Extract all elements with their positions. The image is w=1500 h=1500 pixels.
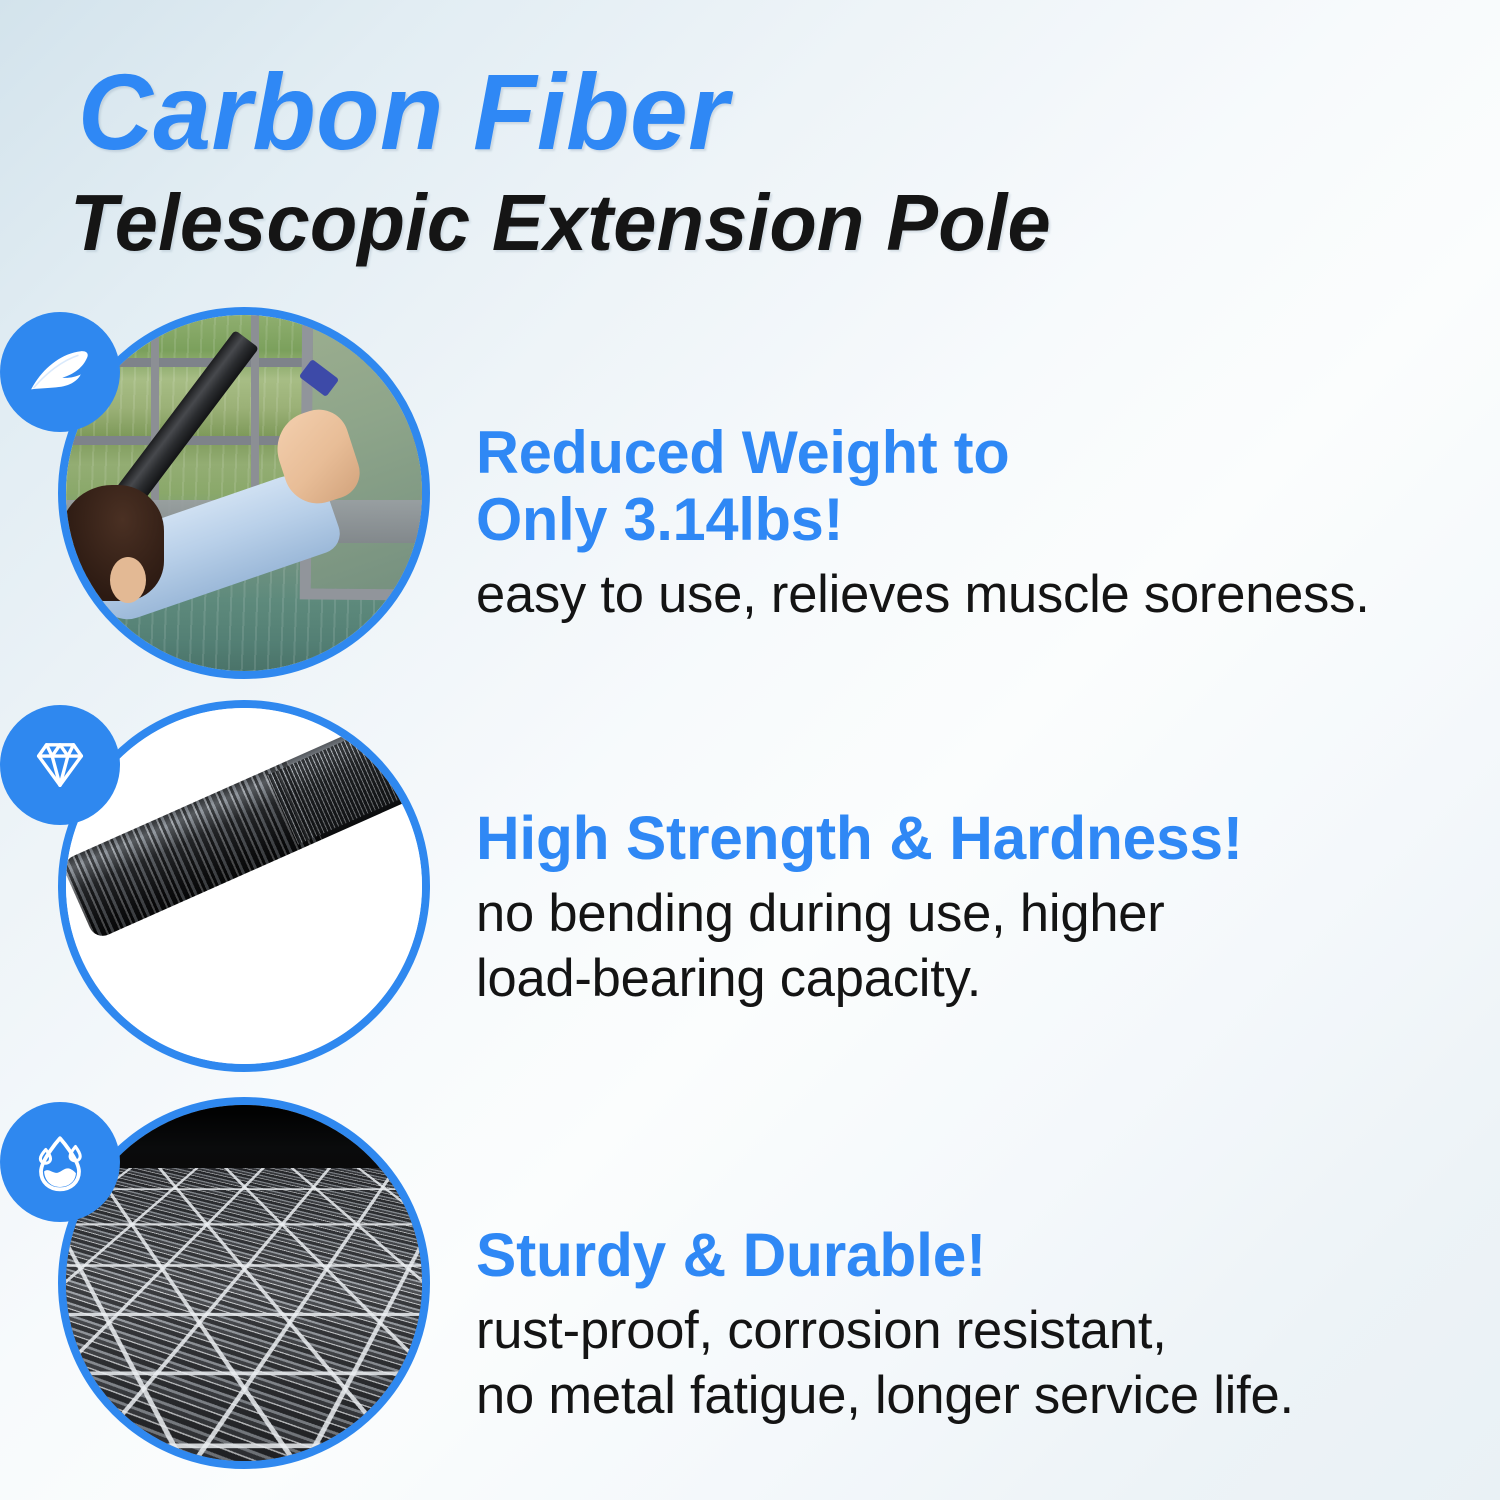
page-title-main: Carbon Fiber xyxy=(78,58,729,166)
feature-headline: High Strength & Hardness! xyxy=(476,804,1243,872)
page-title-sub: Telescopic Extension Pole xyxy=(70,183,1051,263)
feature-headline: Reduced Weight to Only 3.14lbs! xyxy=(476,419,1370,553)
diamond-icon xyxy=(24,729,96,801)
feather-icon xyxy=(23,335,97,409)
product-infographic-poster: Carbon Fiber Telescopic Extension Pole xyxy=(0,0,1500,1500)
feature-text-1: Reduced Weight to Only 3.14lbs! easy to … xyxy=(476,419,1379,628)
water-drop-icon-badge xyxy=(0,1102,120,1222)
window-mullion-vertical-1 xyxy=(151,315,159,521)
feature-text-3: Sturdy & Durable! rust-proof, corrosion … xyxy=(476,1221,1302,1429)
water-drop-icon xyxy=(22,1124,98,1200)
feature-body: easy to use, relieves muscle soreness. xyxy=(476,563,1370,628)
feature-text-2: High Strength & Hardness! no bending dur… xyxy=(476,804,1251,1012)
carbon-hex-pattern xyxy=(58,1168,430,1469)
feature-headline: Sturdy & Durable! xyxy=(476,1221,1294,1289)
diamond-icon-badge xyxy=(0,705,120,825)
feature-body: rust-proof, corrosion resistant, no meta… xyxy=(476,1299,1294,1428)
feature-body: no bending during use, higher load-beari… xyxy=(476,882,1243,1011)
carbon-fiber-pole-body xyxy=(61,700,430,940)
person-ear xyxy=(110,557,146,603)
feather-icon-badge xyxy=(0,312,120,432)
